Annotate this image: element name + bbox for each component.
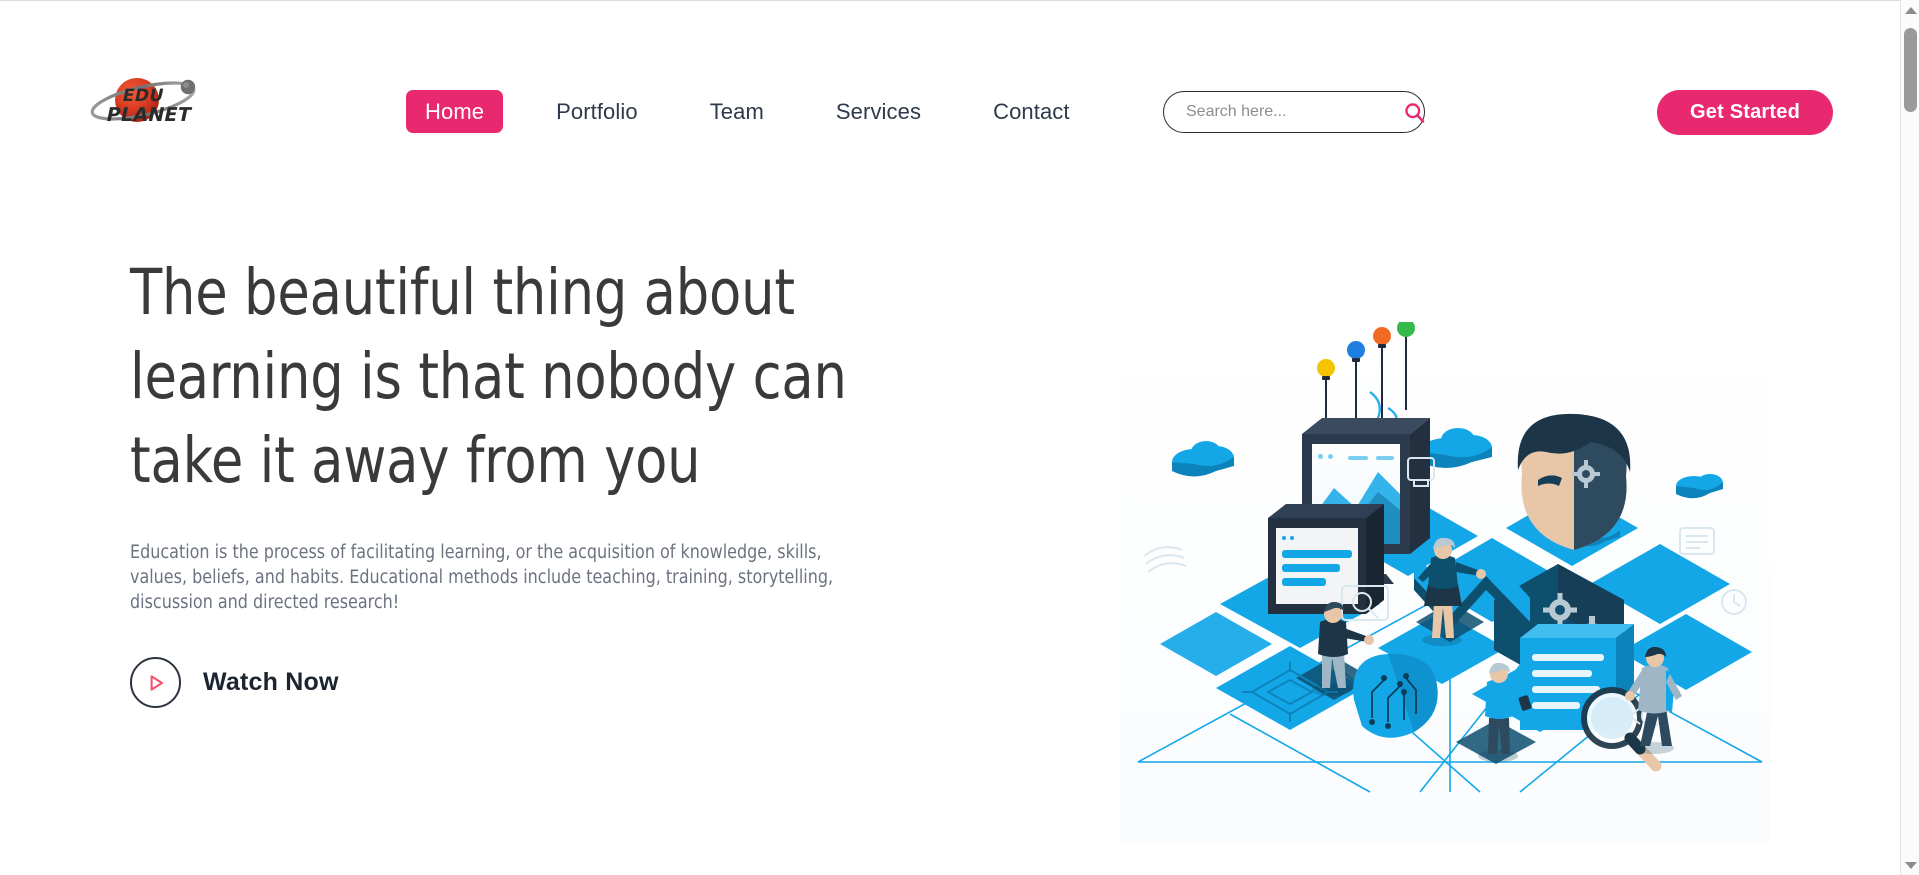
caret-down-icon[interactable] xyxy=(1901,856,1919,874)
main-navigation: Home Portfolio Team Services Contact xyxy=(406,90,1089,133)
nav-item-portfolio[interactable]: Portfolio xyxy=(537,90,657,133)
scroll-thumb[interactable] xyxy=(1904,28,1917,112)
watch-now-label: Watch Now xyxy=(203,668,339,697)
search-icon[interactable] xyxy=(1403,91,1434,133)
hero-description: Education is the process of facilitating… xyxy=(130,540,845,615)
hero-section: The beautiful thing about learning is th… xyxy=(0,177,1900,867)
search-input[interactable] xyxy=(1164,103,1403,121)
svg-text:PLANET: PLANET xyxy=(104,103,193,126)
browser-viewport: EDU PLANET Home Portfolio Team Services xyxy=(0,0,1919,875)
hero-title: The beautiful thing about learning is th… xyxy=(130,251,855,503)
caret-up-icon[interactable] xyxy=(1901,1,1919,19)
page-content: EDU PLANET Home Portfolio Team Services xyxy=(0,1,1900,875)
site-header: EDU PLANET Home Portfolio Team Services xyxy=(0,1,1900,177)
nav-item-contact[interactable]: Contact xyxy=(974,90,1089,133)
nav-item-team[interactable]: Team xyxy=(691,90,783,133)
hero-copy: The beautiful thing about learning is th… xyxy=(130,251,910,708)
vertical-scrollbar[interactable] xyxy=(1900,0,1919,875)
nav-item-home[interactable]: Home xyxy=(406,90,503,133)
get-started-button[interactable]: Get Started xyxy=(1657,90,1833,135)
watch-now-button[interactable]: Watch Now xyxy=(130,657,420,708)
play-icon[interactable] xyxy=(130,657,181,708)
search-box[interactable] xyxy=(1163,91,1425,133)
nav-item-services[interactable]: Services xyxy=(817,90,940,133)
edu-planet-logo[interactable]: EDU PLANET xyxy=(88,71,228,133)
isometric-education-technology-illustration xyxy=(1120,322,1770,842)
